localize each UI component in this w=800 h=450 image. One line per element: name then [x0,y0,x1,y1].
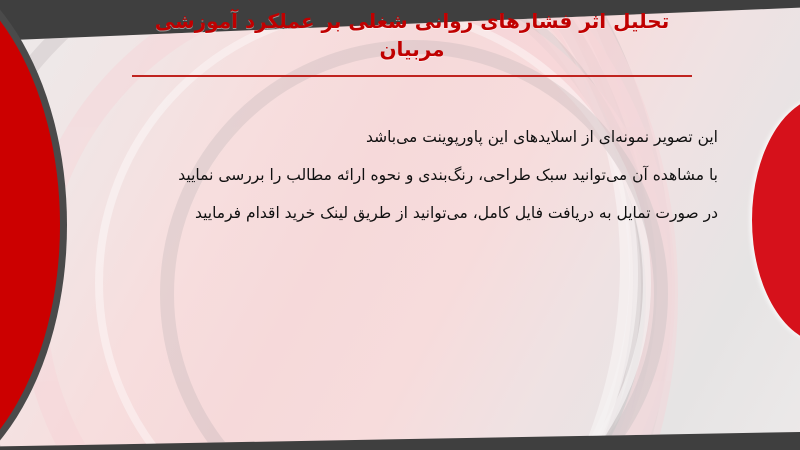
body-line-3: در صورت تمایل به دریافت فایل کامل، می‌تو… [98,194,718,232]
slide-canvas: تحلیل اثر فشارهای روانی شغلی بر عملکرد آ… [0,0,800,450]
slide-title-text: تحلیل اثر فشارهای روانی شغلی بر عملکرد آ… [130,8,694,63]
body-line-2: با مشاهده آن می‌توانید سبک طراحی، رنگ‌بن… [98,156,718,194]
slide-title: تحلیل اثر فشارهای روانی شغلی بر عملکرد آ… [130,8,694,63]
body-line-1: این تصویر نمونه‌ای از اسلایدهای این پاور… [98,118,718,156]
title-underline-rule [132,75,692,77]
slide-body: این تصویر نمونه‌ای از اسلایدهای این پاور… [98,118,718,232]
